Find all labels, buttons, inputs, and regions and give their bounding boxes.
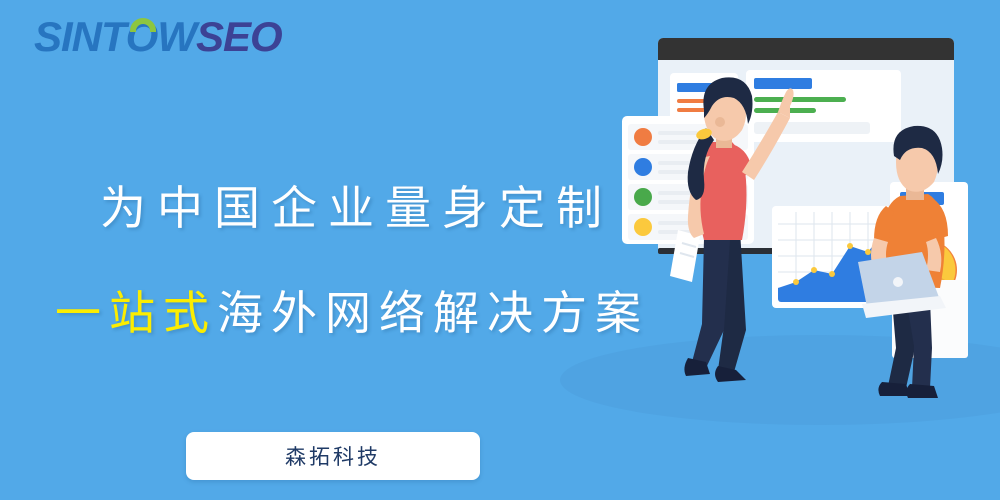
headline-secondary-text: 海外网络解决方案 [217,286,649,340]
list-dot-green [634,188,652,206]
analytics-dashboard-illustration [600,0,1000,500]
shoe-left [878,382,910,396]
headline-primary: 为中国企业量身定制 [100,172,613,238]
logo-text-sintow-part1: SINT [34,13,126,60]
cta-button-label: 森拓科技 [285,441,381,471]
logo-o-with-arc: O [126,16,158,58]
promo-banner: SINTOWSEO 为中国企业量身定制 一站式海外网络解决方案 森拓科技 [0,0,1000,500]
logo-text-seo: SEO [196,13,282,60]
company-name-button[interactable]: 森拓科技 [186,432,480,480]
logo-letter-o: O [126,13,158,60]
list-dot-orange [634,128,652,146]
shoe-right [906,384,938,398]
headline-accent-text: 一站式 [55,286,217,340]
headline-secondary: 一站式海外网络解决方案 [55,277,649,343]
brand-logo[interactable]: SINTOWSEO [34,16,282,58]
logo-text-sintow-part2: W [157,13,196,60]
list-dot-blue [634,158,652,176]
list-dot-yellow [634,218,652,236]
